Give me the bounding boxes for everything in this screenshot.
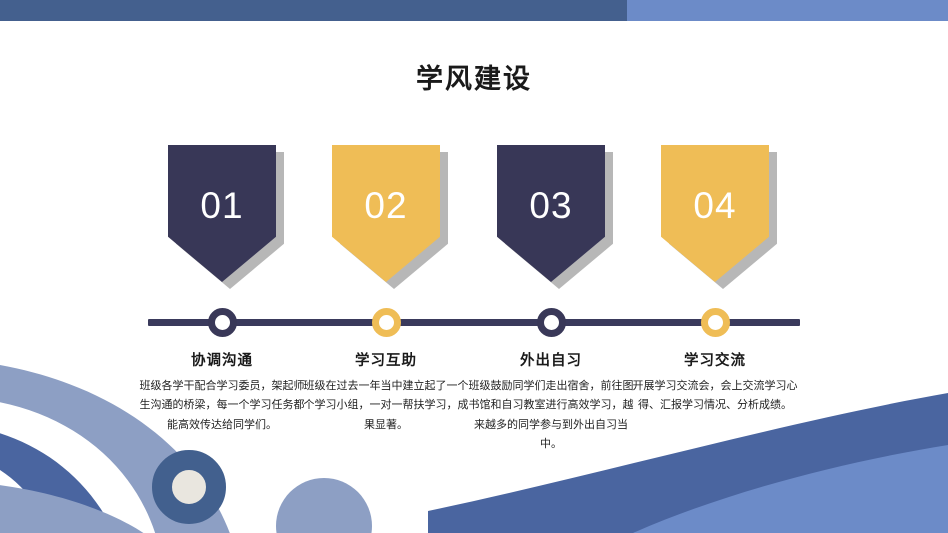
timeline-item-1[interactable]: 01 (144, 145, 300, 282)
timeline-node-1[interactable] (208, 308, 237, 337)
pennant-wrap-4: 04 (661, 145, 769, 282)
caption-body-4: 开展学习交流会，会上交流学习心得、汇报学习情况、分析成绩。 (632, 377, 798, 416)
timeline-node-2[interactable] (372, 308, 401, 337)
top-bar-light-blue (627, 0, 948, 21)
pennant-number-3: 03 (529, 187, 572, 224)
slide-canvas: 学风建设 01 02 03 (0, 0, 948, 533)
pennant-number-1: 01 (200, 187, 243, 224)
bottom-left-solid-circle (276, 478, 372, 533)
caption-body-2: 班级在过去一年当中建立起了一个个学习小组，一对一帮扶学习，成果显著。 (303, 377, 469, 435)
caption-heading-3: 外出自习 (468, 349, 634, 370)
timeline-item-4[interactable]: 04 (637, 145, 793, 282)
pennant-wrap-1: 01 (168, 145, 276, 282)
caption-heading-2: 学习互助 (303, 349, 469, 370)
caption-body-1: 班级各学干配合学习委员，架起师生沟通的桥梁，每一个学习任务都能高效传达给同学们。 (139, 377, 305, 435)
pennant-wrap-2: 02 (332, 145, 440, 282)
timeline-item-3[interactable]: 03 (473, 145, 629, 282)
caption-heading-1: 协调沟通 (139, 349, 305, 370)
pennant-number-4: 04 (693, 187, 736, 224)
timeline-item-2[interactable]: 02 (308, 145, 464, 282)
caption-block-4: 学习交流 开展学习交流会，会上交流学习心得、汇报学习情况、分析成绩。 (632, 349, 798, 416)
timeline-node-4[interactable] (701, 308, 730, 337)
caption-block-2: 学习互助 班级在过去一年当中建立起了一个个学习小组，一对一帮扶学习，成果显著。 (303, 349, 469, 435)
timeline-node-3[interactable] (537, 308, 566, 337)
pennant-wrap-3: 03 (497, 145, 605, 282)
caption-block-1: 协调沟通 班级各学干配合学习委员，架起师生沟通的桥梁，每一个学习任务都能高效传达… (139, 349, 305, 435)
pennant-number-2: 02 (364, 187, 407, 224)
page-title: 学风建设 (0, 57, 948, 96)
caption-heading-4: 学习交流 (632, 349, 798, 370)
caption-body-3: 班级鼓励同学们走出宿舍，前往图书馆和自习教室进行高效学习，越来越多的同学参与到外… (468, 377, 634, 454)
bottom-left-ring-circle (152, 450, 226, 524)
caption-block-3: 外出自习 班级鼓励同学们走出宿舍，前往图书馆和自习教室进行高效学习，越来越多的同… (468, 349, 634, 454)
